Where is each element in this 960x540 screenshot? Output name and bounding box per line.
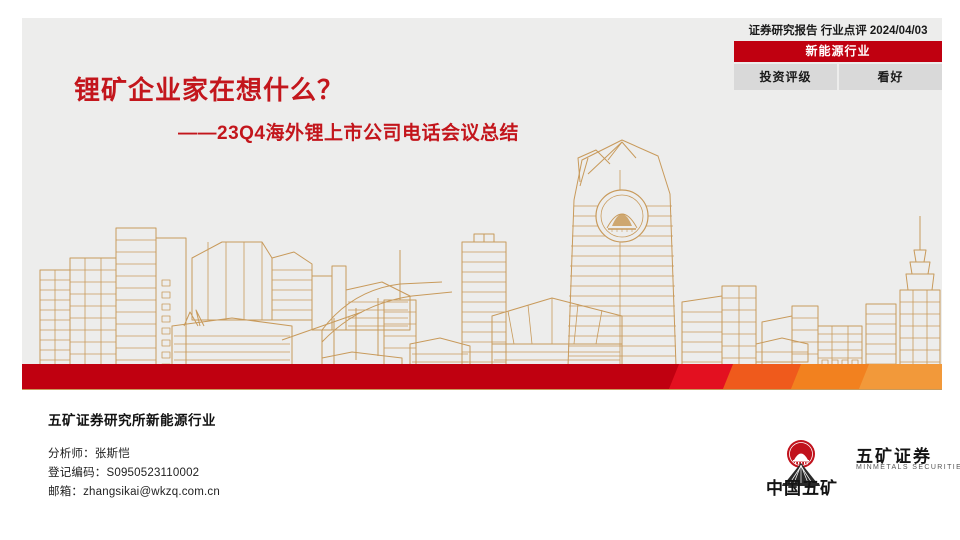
rating-value-cell: 看好 — [839, 64, 942, 90]
hero-panel: 锂矿企业家在想什么？ ——23Q4海外锂上市公司电话会议总结 证券研究报告 行业… — [22, 18, 942, 390]
title-block: 锂矿企业家在想什么？ ——23Q4海外锂上市公司电话会议总结 — [74, 76, 694, 145]
brand-logo: 中国五矿 五矿证券 MINMETALS SECURITIES — [752, 428, 942, 500]
page-subtitle: ——23Q4海外锂上市公司电话会议总结 — [178, 118, 694, 145]
analyst-info: 分析师：张斯恺 登记编码：S0950523110002 邮箱：zhangsika… — [48, 445, 220, 502]
rating-label-cell: 投资评级 — [734, 64, 837, 90]
accent-band — [22, 364, 942, 389]
report-meta-line: 证券研究报告 行业点评 2024/04/03 — [734, 18, 942, 41]
band-segment — [22, 364, 687, 389]
footer-heading: 五矿证券研究所新能源行业 — [48, 409, 216, 429]
analyst-name-line: 分析师：张斯恺 — [48, 445, 220, 464]
page-title: 锂矿企业家在想什么？ — [74, 76, 694, 106]
industry-badge: 新能源行业 — [734, 41, 942, 62]
band-segment — [859, 364, 942, 389]
logo-group-name: 中国五矿 — [752, 474, 852, 499]
tower-emblem — [596, 190, 648, 242]
rating-row: 投资评级 看好 — [734, 64, 942, 90]
report-meta-box: 证券研究报告 行业点评 2024/04/03 新能源行业 投资评级 看好 — [734, 18, 942, 90]
logo-securities-en: MINMETALS SECURITIES — [856, 464, 960, 471]
city-skyline-illustration — [22, 130, 942, 390]
analyst-email-line: 邮箱：zhangsikai@wkzq.com.cn — [48, 483, 220, 502]
analyst-license-line: 登记编码：S0950523110002 — [48, 464, 220, 483]
